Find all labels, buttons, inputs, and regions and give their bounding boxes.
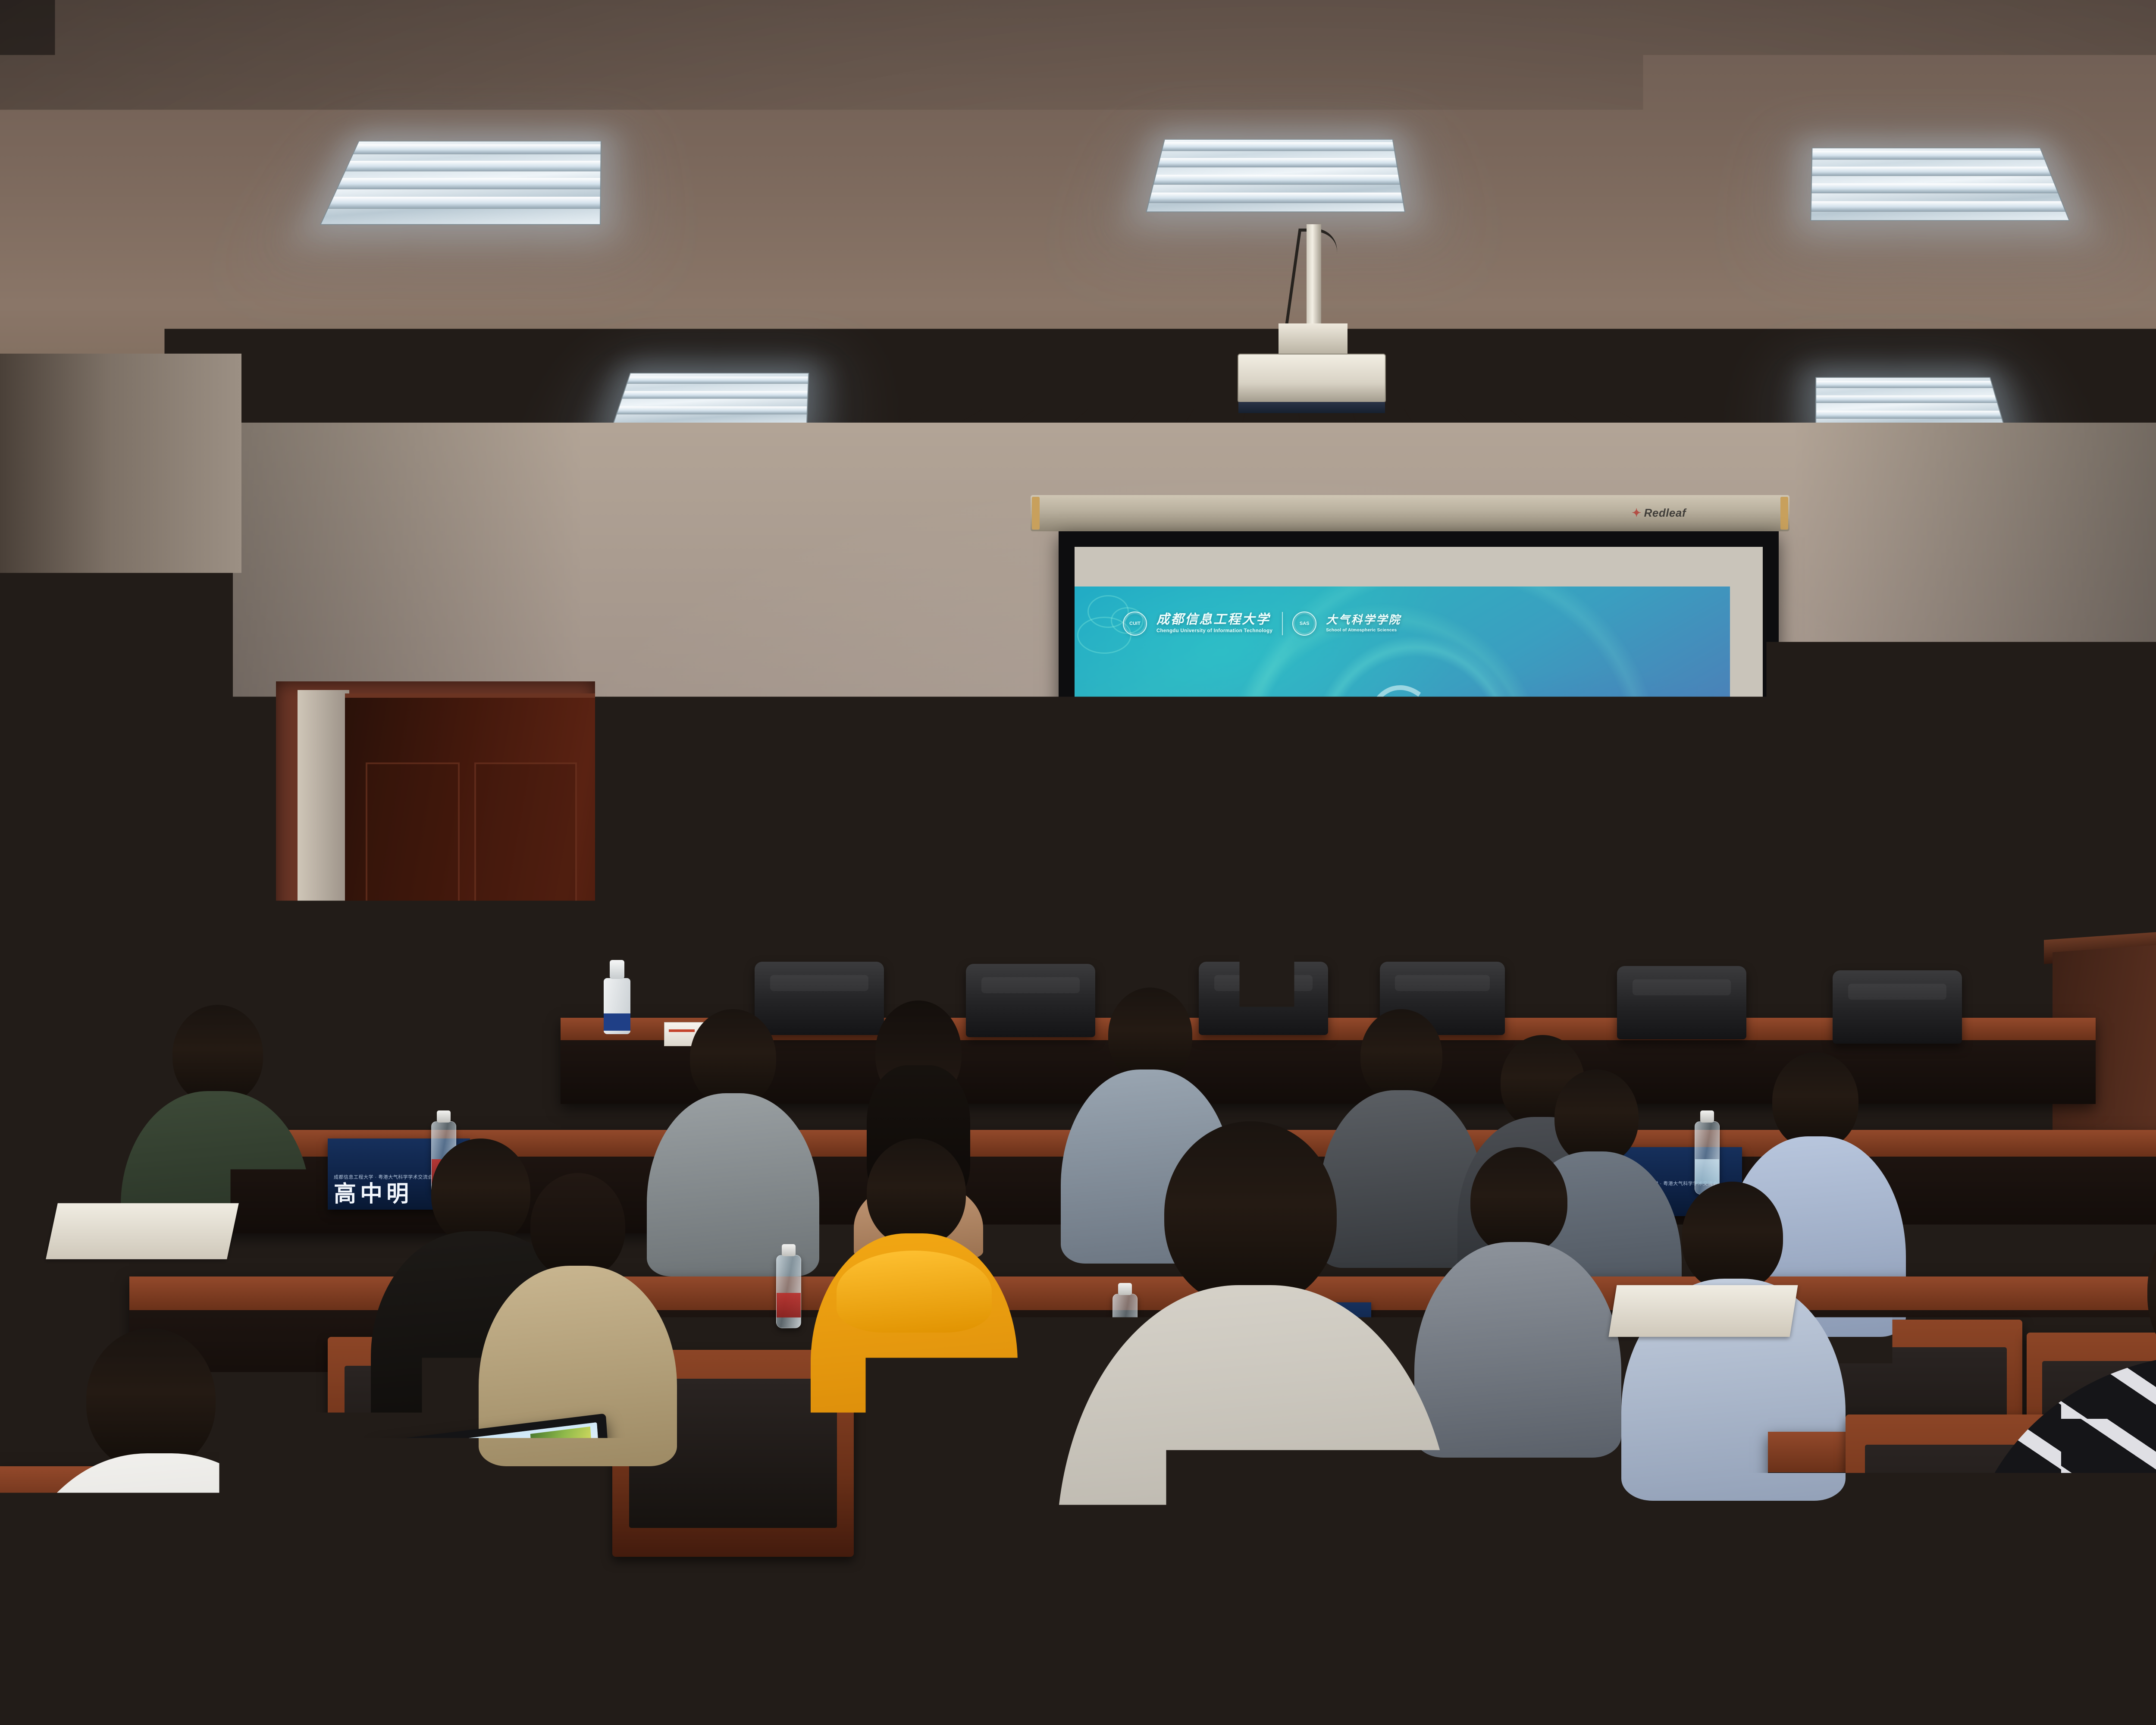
logo-divider [1282, 612, 1283, 635]
projection-screen: CUIT 成都信息工程大学 Chengdu University of Info… [1075, 547, 1763, 948]
site-banner-red [395, 1492, 455, 1509]
slide-logo-lockup: CUIT 成都信息工程大学 Chengdu University of Info… [1123, 612, 1401, 636]
bottle-cap [1700, 1110, 1714, 1123]
laptop-screen [385, 1422, 607, 1595]
cloud-motif-icon [1637, 844, 1683, 876]
slide-title-emphasis: 交流会 [1430, 706, 1606, 760]
watermark-headline: 激活 Windows [1506, 892, 1708, 917]
laptop-icon[interactable] [375, 1413, 617, 1605]
ceiling-light-1 [320, 141, 602, 225]
handout-paper [1608, 1285, 1798, 1337]
conference-room-photo: Redleaf CUIT 成都信息工程大学 Chengdu University… [0, 0, 2156, 1725]
hand-sanitizer-bottle [604, 978, 630, 1034]
attendee-foreground [1056, 1121, 1453, 1725]
school-name-cn: 大气科学学院 [1326, 615, 1401, 626]
site-panel-blue [521, 1474, 586, 1491]
bottle-label [777, 1293, 801, 1317]
hoodie-hood [837, 1251, 992, 1333]
site-logo-icon [390, 1452, 405, 1468]
presentation-slide: CUIT 成都信息工程大学 Chengdu University of Info… [1075, 586, 1730, 906]
university-seal-icon: CUIT [1123, 612, 1147, 636]
sanitizer-label [604, 1013, 630, 1031]
ceiling-light-4 [1810, 147, 2070, 221]
bottle-cap [782, 1244, 796, 1256]
water-bottle [776, 1255, 801, 1328]
watermark-subline: 转到"设置"以激活 Windows。 [1506, 920, 1708, 936]
slide-title-line-1: 成都信息工程大学 [1126, 703, 1373, 730]
ceiling-light-3 [1146, 139, 1405, 212]
light-switch[interactable] [224, 942, 247, 972]
slide-title-line-2: 粤 港大气科学学术 [1126, 736, 1373, 762]
handout-paper [46, 1203, 239, 1259]
windows-activation-watermark: 激活 Windows 转到"设置"以激活 Windows。 [1506, 892, 1708, 936]
brush-circle-icon [1357, 678, 1450, 787]
site-panel-yellow [525, 1532, 591, 1565]
paper-cup [17, 1147, 41, 1176]
slide-title-block: 成都信息工程大学 粤 港大气科学学术 交流会 [1126, 685, 1683, 781]
handout-paper [0, 1268, 136, 1320]
site-banner-orange [471, 1498, 544, 1517]
sanitizer-pump[interactable] [610, 960, 624, 979]
projector-icon [1238, 354, 1386, 403]
projector-mount-pole [1307, 224, 1321, 332]
bottle-label [1695, 1159, 1719, 1184]
wooden-chair[interactable] [617, 1449, 1005, 1725]
office-chair[interactable] [1833, 970, 1962, 1044]
office-chair[interactable] [1617, 966, 1746, 1039]
attendee-white-shirt [9, 1453, 310, 1725]
attendee-beige-shirt [1056, 1285, 1453, 1725]
door-panel-upper-right [474, 762, 577, 947]
university-name-en: Chengdu University of Information Techno… [1156, 629, 1272, 634]
bottle-cap [437, 1110, 451, 1123]
microphone-icon [2113, 860, 2117, 938]
attendee-adidas-jacket [1966, 1354, 2156, 1725]
university-name-cn: 成都信息工程大学 [1156, 613, 1272, 626]
roller-end-left [1032, 497, 1040, 530]
school-seal-icon: SAS [1292, 612, 1316, 636]
school-name-en: School of Atmospheric Sciences [1326, 628, 1401, 633]
screen-roller-housing: Redleaf [1031, 495, 1789, 531]
attendee-foreground [1966, 1199, 2156, 1725]
projector-mount-bracket [1279, 323, 1347, 358]
site-banner-green [459, 1526, 490, 1539]
attendee [811, 1138, 1018, 1449]
attendee-foreground [9, 1328, 310, 1725]
slide-date-location: 2023年4月·四川 成都 [1316, 854, 1455, 872]
site-title-text [407, 1446, 464, 1457]
door-panel-upper-left [366, 762, 460, 947]
ceiling-light-2 [611, 373, 809, 430]
screen-brand-label: Redleaf [1632, 506, 1686, 520]
roller-end-right [1780, 497, 1788, 530]
